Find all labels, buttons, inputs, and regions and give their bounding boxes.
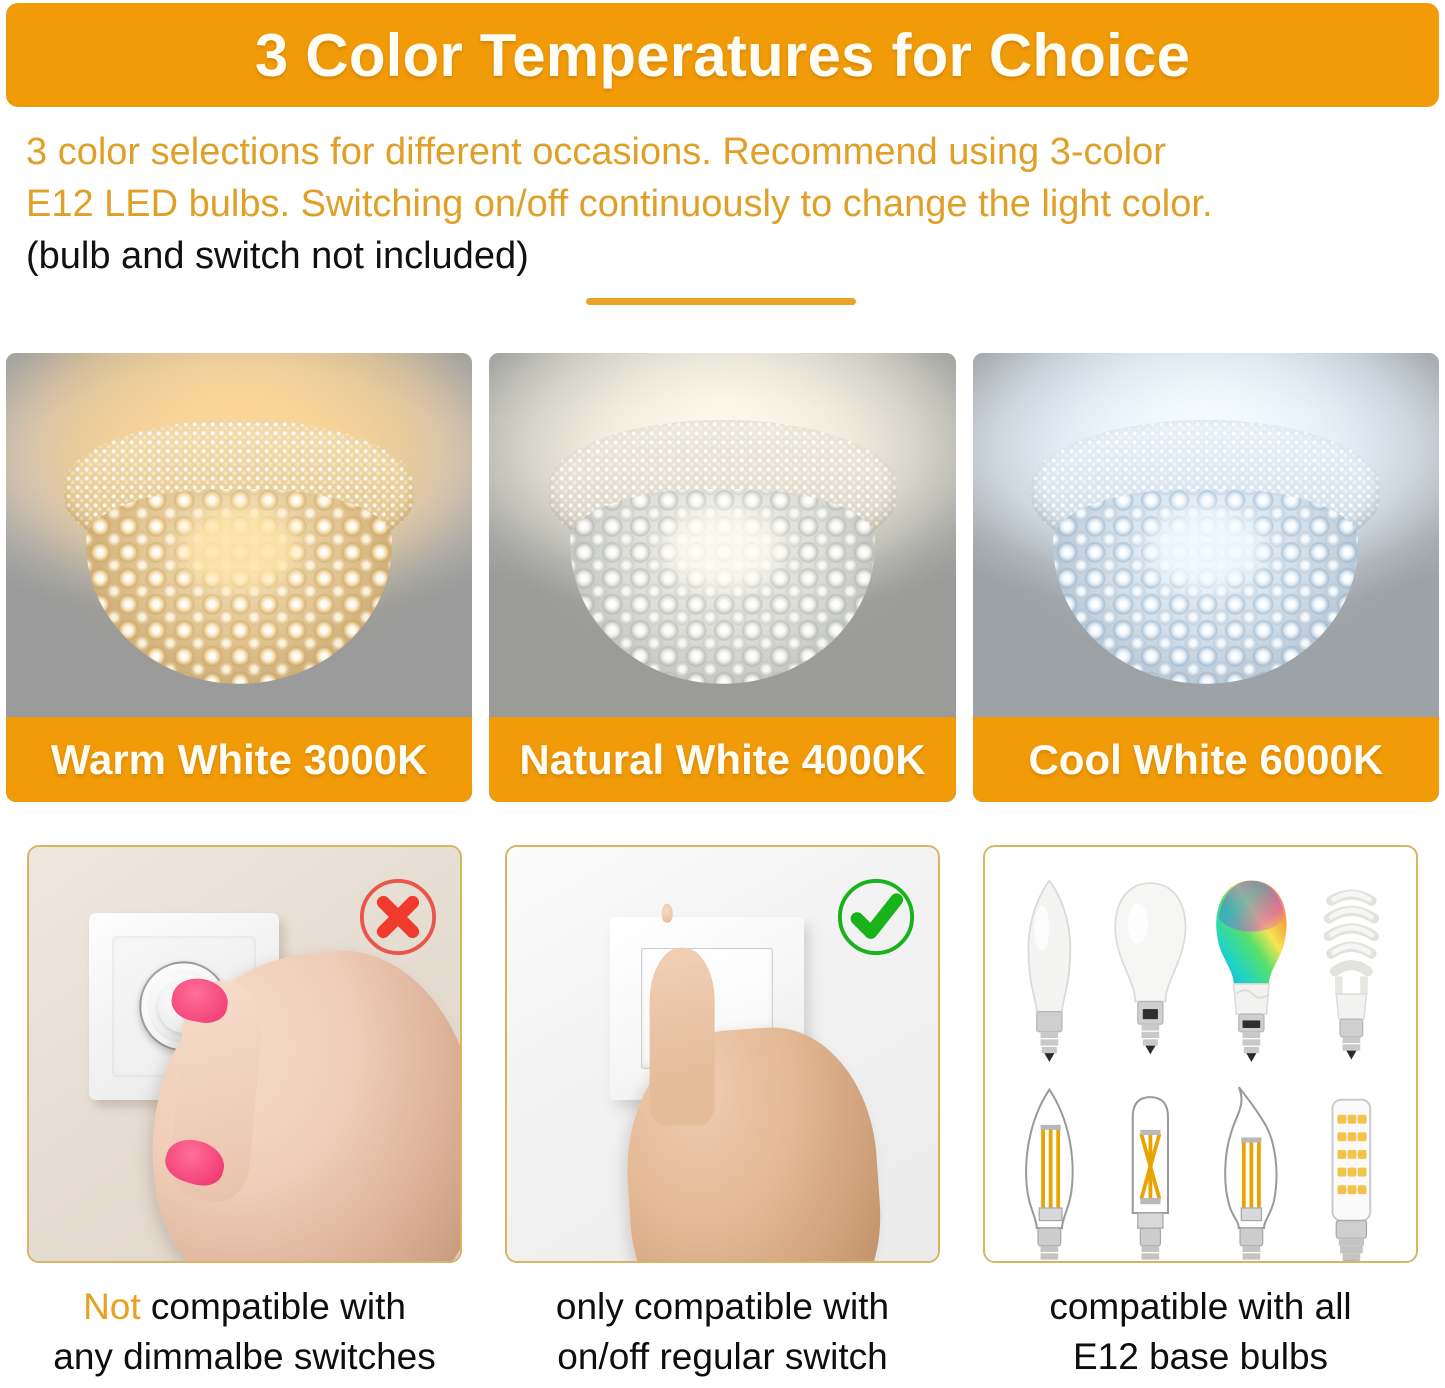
subtitle-block: 3 color selections for different occasio… — [26, 126, 1426, 282]
temperature-label-text: Cool White 6000K — [1028, 736, 1383, 784]
subtitle-line-1: 3 color selections for different occasio… — [26, 126, 1426, 178]
caption-line-1: compatible with all — [983, 1282, 1418, 1332]
infographic-page: 3 Color Temperatures for Choice 3 color … — [0, 0, 1445, 1388]
temperature-label-band: Natural White 4000K — [489, 717, 955, 802]
temperature-label-text: Natural White 4000K — [519, 736, 925, 784]
lamp-core-glow — [1148, 507, 1264, 589]
temperature-label-band: Warm White 3000K — [6, 717, 472, 802]
temperature-card-cool-white: Cool White 6000K — [973, 353, 1439, 802]
caption-line-2: E12 base bulbs — [983, 1332, 1418, 1382]
temperature-label-text: Warm White 3000K — [51, 736, 428, 784]
e12-bulb-grid — [985, 847, 1416, 1261]
frosted-globe-bulb — [1100, 863, 1201, 1077]
fingernail — [662, 904, 673, 924]
caption-rocker: only compatible with on/off regular swit… — [505, 1282, 940, 1386]
compatibility-card-row — [27, 845, 1418, 1263]
crystal-ceiling-light-cool — [1024, 375, 1388, 689]
caption-line-2: any dimmalbe switches — [27, 1332, 462, 1382]
caption-line-1: Not compatible with — [27, 1282, 462, 1332]
page-title: 3 Color Temperatures for Choice — [255, 21, 1190, 90]
crystal-ceiling-light-natural — [541, 375, 905, 689]
bulb-grid-row-2 — [999, 1077, 1402, 1263]
rgb-color-changing-bulb — [1201, 863, 1302, 1077]
led-corn-bulb — [1301, 1077, 1402, 1263]
temperature-card-natural-white: Natural White 4000K — [489, 353, 955, 802]
caption-highlight: Not — [83, 1286, 141, 1327]
lamp-core-glow — [664, 507, 780, 589]
caption-row: Not compatible with any dimmalbe switche… — [27, 1282, 1418, 1386]
header-banner: 3 Color Temperatures for Choice — [6, 3, 1439, 107]
compatibility-card-bulb-grid — [983, 845, 1418, 1263]
caption-dimmer: Not compatible with any dimmalbe switche… — [27, 1282, 462, 1386]
check-icon — [833, 874, 919, 960]
frosted-candle-bulb — [999, 863, 1100, 1077]
compatibility-card-rocker-switch — [505, 845, 940, 1263]
index-finger — [650, 948, 715, 1126]
lamp-core-glow — [181, 507, 297, 589]
hand-with-pink-nails — [129, 936, 462, 1263]
cross-icon — [355, 874, 441, 960]
flame-tip-filament-bulb — [1201, 1077, 1302, 1263]
subtitle-note: (bulb and switch not included) — [26, 230, 1426, 282]
tubular-filament-bulb — [1100, 1077, 1201, 1263]
filament-candle-bulb — [999, 1077, 1100, 1263]
temperature-card-warm-white: Warm White 3000K — [6, 353, 472, 802]
section-divider — [586, 298, 856, 305]
temperature-card-row: Warm White 3000K Natural White 4000K — [6, 353, 1439, 802]
subtitle-line-2: E12 LED bulbs. Switching on/off continuo… — [26, 178, 1426, 230]
caption-bulbs: compatible with all E12 base bulbs — [983, 1282, 1418, 1386]
caption-rest: compatible with — [141, 1286, 406, 1327]
compatibility-card-dimmer — [27, 845, 462, 1263]
bulb-grid-row-1 — [999, 863, 1402, 1077]
caption-line-1: only compatible with — [505, 1282, 940, 1332]
temperature-label-band: Cool White 6000K — [973, 717, 1439, 802]
caption-line-2: on/off regular switch — [505, 1332, 940, 1382]
crystal-ceiling-light-warm — [57, 375, 421, 689]
cfl-spiral-bulb — [1301, 863, 1402, 1077]
